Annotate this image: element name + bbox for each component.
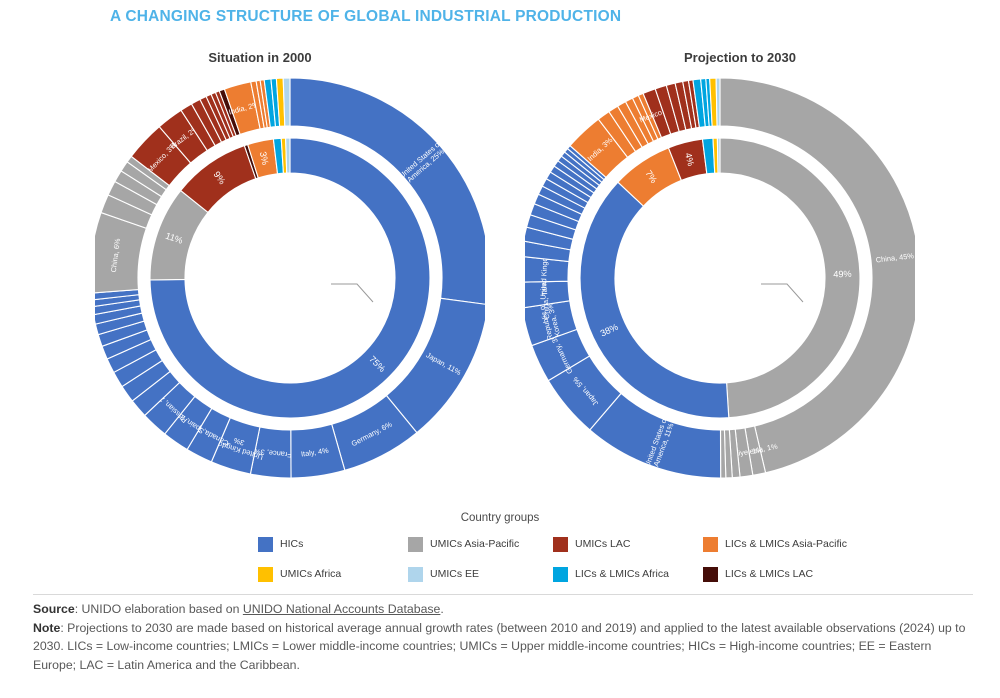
legend-label: LICs & LMICs Asia-Pacific — [725, 537, 847, 550]
group-slice-label: 49% — [833, 269, 852, 280]
source-line: Source: UNIDO elaboration based on UNIDO… — [33, 600, 973, 619]
legend-label: UMICs LAC — [575, 537, 630, 550]
group-slice[interactable] — [286, 138, 290, 173]
legend-swatch — [703, 567, 718, 582]
legend-item[interactable]: HICs — [258, 537, 408, 563]
legend-label: LICs & LMICs LAC — [725, 567, 813, 580]
chart-heading-right: Projection to 2030 — [590, 50, 890, 65]
note-text: : Projections to 2030 are made based on … — [33, 621, 965, 672]
legend-item[interactable]: UMICs Africa — [258, 567, 408, 593]
source-link[interactable]: UNIDO National Accounts Database — [243, 602, 441, 616]
footer-divider — [33, 594, 973, 595]
chart-heading-left: Situation in 2000 — [110, 50, 410, 65]
legend-item[interactable]: UMICs Asia-Pacific — [408, 537, 553, 563]
legend-swatch — [703, 537, 718, 552]
legend-label: HICs — [280, 537, 303, 550]
source-end: . — [440, 602, 443, 616]
country-slice[interactable] — [716, 78, 720, 126]
annotation-leader-line — [761, 284, 803, 302]
note-label: Note — [33, 621, 60, 635]
chart-page: A CHANGING STRUCTURE OF GLOBAL INDUSTRIA… — [0, 0, 1000, 698]
annotation-country-group-share: Country groupshare — [684, 271, 757, 297]
legend-item[interactable]: LICs & LMICs LAC — [703, 567, 873, 593]
legend-swatch — [408, 537, 423, 552]
legend-swatch — [258, 537, 273, 552]
legend-heading: Country groups — [0, 512, 1000, 524]
legend-item[interactable]: UMICs EE — [408, 567, 553, 593]
page-title: A CHANGING STRUCTURE OF GLOBAL INDUSTRIA… — [110, 8, 621, 26]
legend-label: LICs & LMICs Africa — [575, 567, 669, 580]
group-slice[interactable] — [717, 138, 720, 173]
legend-item[interactable]: UMICs LAC — [553, 537, 703, 563]
sunburst-chart-2000: United States ofAmerica, 25%Japan, 11%Ge… — [95, 78, 485, 498]
footer-notes: Source: UNIDO elaboration based on UNIDO… — [33, 600, 973, 674]
note-line: Note: Projections to 2030 are made based… — [33, 619, 973, 675]
annotation-country-group-share: Country groupshare — [254, 271, 327, 297]
country-slice[interactable] — [283, 78, 290, 126]
legend-swatch — [553, 567, 568, 582]
legend-swatch — [258, 567, 273, 582]
source-text: : UNIDO elaboration based on — [75, 602, 243, 616]
legend-item[interactable]: LICs & LMICs Asia-Pacific — [703, 537, 873, 563]
legend-item[interactable]: LICs & LMICs Africa — [553, 567, 703, 593]
country-slice[interactable] — [720, 430, 725, 478]
annotation-leader-line — [331, 284, 373, 302]
sunburst-chart-2030: China, 45%Indonesia, 1%Türkiye, 1%United… — [525, 78, 915, 498]
legend-label: UMICs Africa — [280, 567, 341, 580]
legend-swatch — [408, 567, 423, 582]
legend-label: UMICs EE — [430, 567, 479, 580]
legend-label: UMICs Asia-Pacific — [430, 537, 519, 550]
legend-swatch — [553, 537, 568, 552]
legend: HICsUMICs Asia-PacificUMICs LACLICs & LM… — [258, 537, 803, 593]
source-label: Source — [33, 602, 75, 616]
